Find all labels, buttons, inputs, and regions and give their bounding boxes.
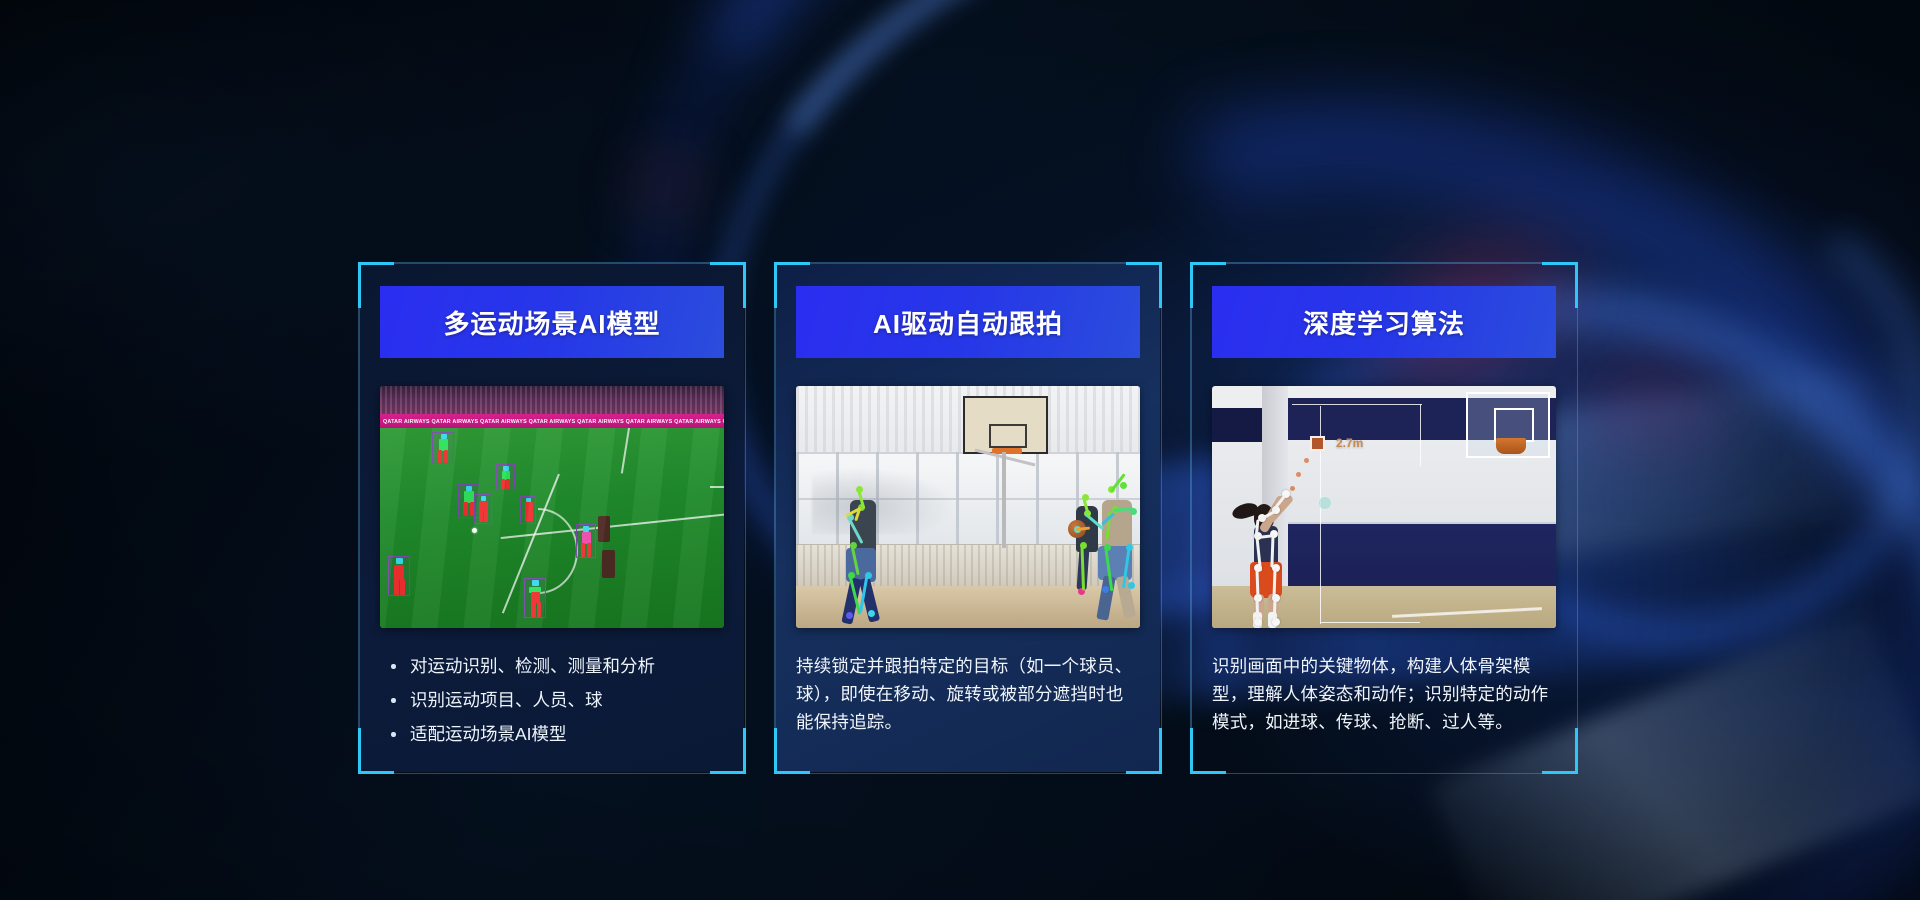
list-item: 识别运动项目、人员、球 [384, 686, 724, 714]
led-advertising-board: QATAR AIRWAYS QATAR AIRWAYS QATAR AIRWAY… [380, 414, 724, 429]
tracking-line-bottom [1320, 622, 1420, 623]
detection-box [458, 484, 480, 518]
hoop-pole [1002, 452, 1006, 548]
pose-skeleton [497, 465, 514, 489]
pitch-line-3 [502, 474, 560, 614]
bone [1270, 535, 1274, 567]
bone [1256, 599, 1260, 621]
card-body: 对运动识别、检测、测量和分析 识别运动项目、人员、球 适配运动场景AI模型 [380, 652, 724, 774]
card-body: 持续锁定并跟拍特定的目标（如一个球员、球），即使在移动、旋转或被部分遮挡时也能保… [796, 652, 1140, 774]
tracking-line-vertical [1420, 404, 1421, 466]
feature-card-multi-sport-ai-model[interactable]: 多运动场景AI模型 QATAR AIRWAYS QATAR AIRWAYS QA… [358, 262, 746, 774]
card-title-deep-learning-algorithm: 深度学习算法 [1212, 286, 1556, 358]
feature-bullet-list: 对运动识别、检测、测量和分析 识别运动项目、人员、球 适配运动场景AI模型 [380, 652, 724, 748]
card-title-multi-sport-ai-model: 多运动场景AI模型 [380, 286, 724, 358]
detection-box [524, 578, 546, 618]
detection-box [496, 464, 515, 490]
feature-card-deep-learning-algorithm[interactable]: 深度学习算法 2.7m [1190, 262, 1578, 774]
feature-card-ai-auto-tracking[interactable]: AI驱动自动跟拍 [774, 262, 1162, 774]
gym-player-left [838, 484, 890, 626]
soccer-ball [472, 528, 477, 533]
card-description: 识别画面中的关键物体，构建人体骨架模型，理解人体姿态和动作；识别特定的动作模式，… [1212, 652, 1556, 736]
pose-skeleton [577, 525, 595, 557]
distance-label: 2.7m [1336, 436, 1363, 450]
pose-skeleton [1044, 482, 1140, 628]
list-item: 对运动识别、检测、测量和分析 [384, 652, 724, 680]
player-unlabeled [602, 550, 615, 578]
list-item: 适配运动场景AI模型 [384, 720, 724, 748]
led-board-text: QATAR AIRWAYS QATAR AIRWAYS QATAR AIRWAY… [380, 419, 724, 425]
ball-tracking-marker [1310, 436, 1325, 451]
basketball-backboard [963, 396, 1048, 454]
backboard-inner-square [1494, 408, 1534, 442]
basketball-hoop [1496, 438, 1526, 454]
player-unlabeled [598, 516, 610, 542]
media-gym-pose-estimation [796, 386, 1140, 628]
pose-skeleton [459, 485, 479, 517]
predicted-ball-position [1318, 496, 1332, 510]
pose-skeleton [838, 484, 890, 626]
pose-skeleton [433, 433, 453, 463]
pose-skeleton [525, 579, 545, 617]
tracking-line-top [1292, 404, 1422, 405]
pitch-center-arc [498, 508, 578, 594]
detection-box [520, 496, 536, 524]
feature-card-row: 多运动场景AI模型 QATAR AIRWAYS QATAR AIRWAYS QA… [358, 262, 1598, 774]
pitch-line-1 [621, 428, 630, 474]
pitch-line-2 [501, 511, 724, 539]
stadium-crowd [380, 386, 724, 416]
detection-box [388, 556, 410, 596]
pose-skeleton [475, 495, 491, 523]
card-title-ai-auto-tracking: AI驱动自动跟拍 [796, 286, 1140, 358]
pose-skeleton [389, 557, 409, 595]
detection-box [576, 524, 596, 558]
backboard-inner-square [989, 424, 1027, 448]
detection-box [474, 494, 492, 524]
soccer-pitch [380, 428, 724, 628]
card-description: 持续锁定并跟拍特定的目标（如一个球员、球），即使在移动、旋转或被部分遮挡时也能保… [796, 652, 1140, 736]
card-body: 识别画面中的关键物体，构建人体骨架模型，理解人体姿态和动作；识别特定的动作模式，… [1212, 652, 1556, 774]
bone [1256, 569, 1260, 599]
pose-skeleton [1232, 490, 1306, 628]
media-court-shot-tracking: 2.7m [1212, 386, 1556, 628]
detection-box [432, 432, 454, 464]
media-soccer-detection: QATAR AIRWAYS QATAR AIRWAYS QATAR AIRWAY… [380, 386, 724, 628]
pitch-line-4 [710, 486, 724, 488]
court-player-shooting [1232, 490, 1306, 628]
gym-player-group-right [1044, 482, 1140, 628]
pose-skeleton [521, 497, 535, 523]
